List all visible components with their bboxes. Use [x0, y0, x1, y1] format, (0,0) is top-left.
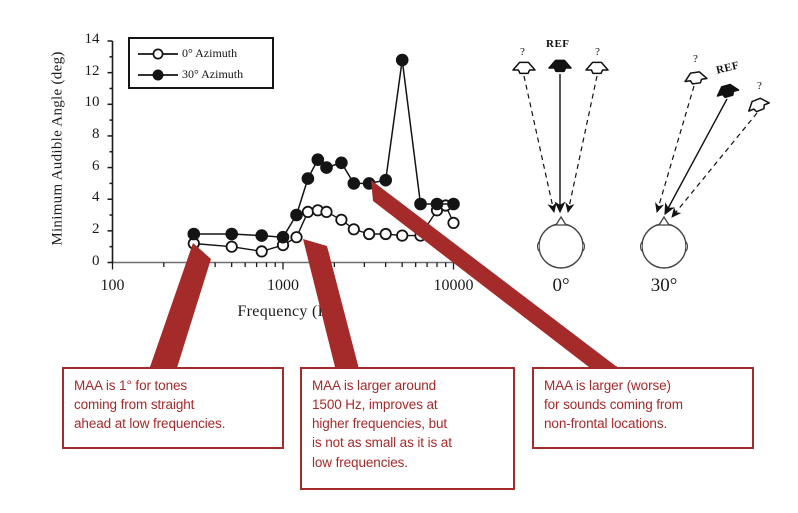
callout-2-line-0: MAA is larger around: [312, 376, 504, 395]
callout-1-line-2: ahead at low frequencies.: [74, 414, 273, 433]
arrow-to-1500hz-region: [303, 239, 359, 369]
callout-1-line-1: coming from straight: [74, 395, 273, 414]
callout-3-line-2: non-frontal locations.: [544, 414, 743, 433]
callout-2-line-4: low frequencies.: [312, 453, 504, 472]
arrow-to-30deg-curve: [371, 180, 617, 374]
callout-3-line-1: for sounds coming from: [544, 395, 743, 414]
callout-3-line-0: MAA is larger (worse): [544, 376, 743, 395]
callout-1-line-0: MAA is 1° for tones: [74, 376, 273, 395]
callout-2-line-3: is not as small as it is at: [312, 433, 504, 452]
callout-low-frequency: MAA is 1° for tones coming from straight…: [62, 367, 284, 449]
callout-non-frontal: MAA is larger (worse) for sounds coming …: [532, 367, 754, 449]
callout-2-line-2: higher frequencies, but: [312, 414, 504, 433]
callout-2-line-1: 1500 Hz, improves at: [312, 395, 504, 414]
figure-canvas: 02468101214 100100010000 Minimum Audible…: [0, 0, 798, 513]
callout-1500hz: MAA is larger around 1500 Hz, improves a…: [300, 367, 515, 490]
arrow-to-low-frequency-region: [150, 243, 211, 371]
